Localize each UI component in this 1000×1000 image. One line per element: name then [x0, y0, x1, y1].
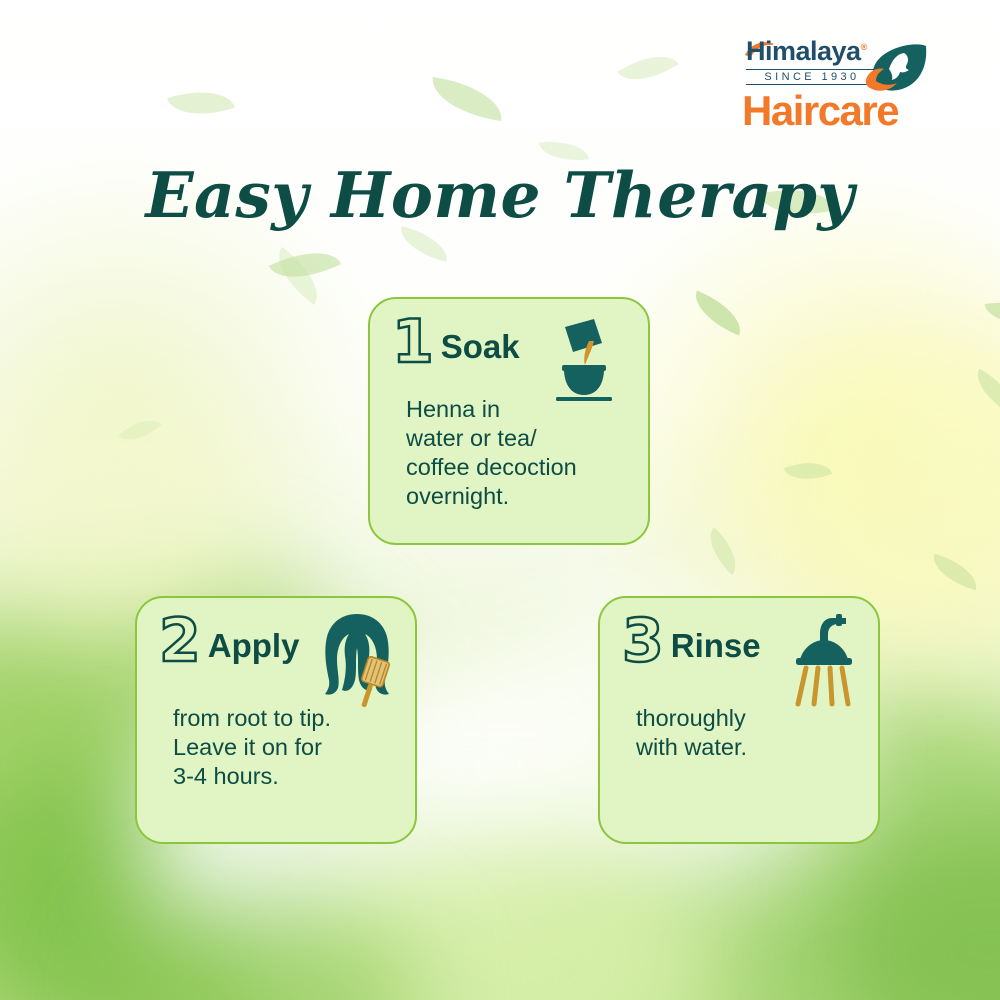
poster-canvas: Himalaya® SINCE 1930 Haircare Easy Home … [0, 0, 1000, 1000]
step-3-title: Rinse [671, 629, 761, 662]
shower-head-icon [770, 612, 856, 708]
step-1-title: Soak [441, 330, 520, 363]
leaf-icon [269, 237, 341, 293]
step-1-number: 1 [392, 317, 434, 369]
page-title: Easy Home Therapy [0, 158, 1000, 232]
leaf-icon [967, 369, 1000, 416]
leaf-icon [428, 77, 506, 121]
step-3-number: 3 [622, 616, 664, 668]
hair-brush-icon [311, 610, 403, 708]
leaf-woman-emblem-icon [864, 40, 930, 102]
himalaya-haircare-logo: Himalaya® SINCE 1930 Haircare [742, 38, 922, 130]
leaf-icon [687, 290, 749, 335]
step-2-heading: 2 Apply [159, 616, 299, 668]
step-3-heading: 3 Rinse [622, 616, 761, 668]
step-2-title: Apply [208, 629, 300, 662]
brand-tagline: SINCE 1930 [746, 69, 878, 85]
leaf-icon [784, 453, 833, 489]
step-card-1: 1 Soak Henna in water or tea/ coffee dec… [368, 297, 650, 545]
leaf-icon [984, 296, 1000, 330]
step-card-3: 3 Rinse thoroughly with water. [598, 596, 880, 844]
step-1-heading: 1 Soak [392, 317, 520, 369]
leaf-icon [699, 527, 747, 575]
brand-name: Himalaya® [746, 38, 867, 65]
step-card-2: 2 Apply from root to tip. Leave it on fo… [135, 596, 417, 844]
step-3-description: thoroughly with water. [636, 704, 861, 762]
step-2-description: from root to tip. Leave it on for 3-4 ho… [173, 704, 403, 791]
leaf-icon [617, 42, 678, 94]
leaf-icon [928, 554, 983, 591]
leaf-icon [167, 79, 235, 127]
leaf-icon [266, 247, 331, 305]
step-1-description: Henna in water or tea/ coffee decoction … [406, 395, 631, 512]
bowl-pouring-icon [538, 313, 630, 405]
leaf-icon [118, 409, 161, 450]
step-2-number: 2 [159, 616, 201, 668]
